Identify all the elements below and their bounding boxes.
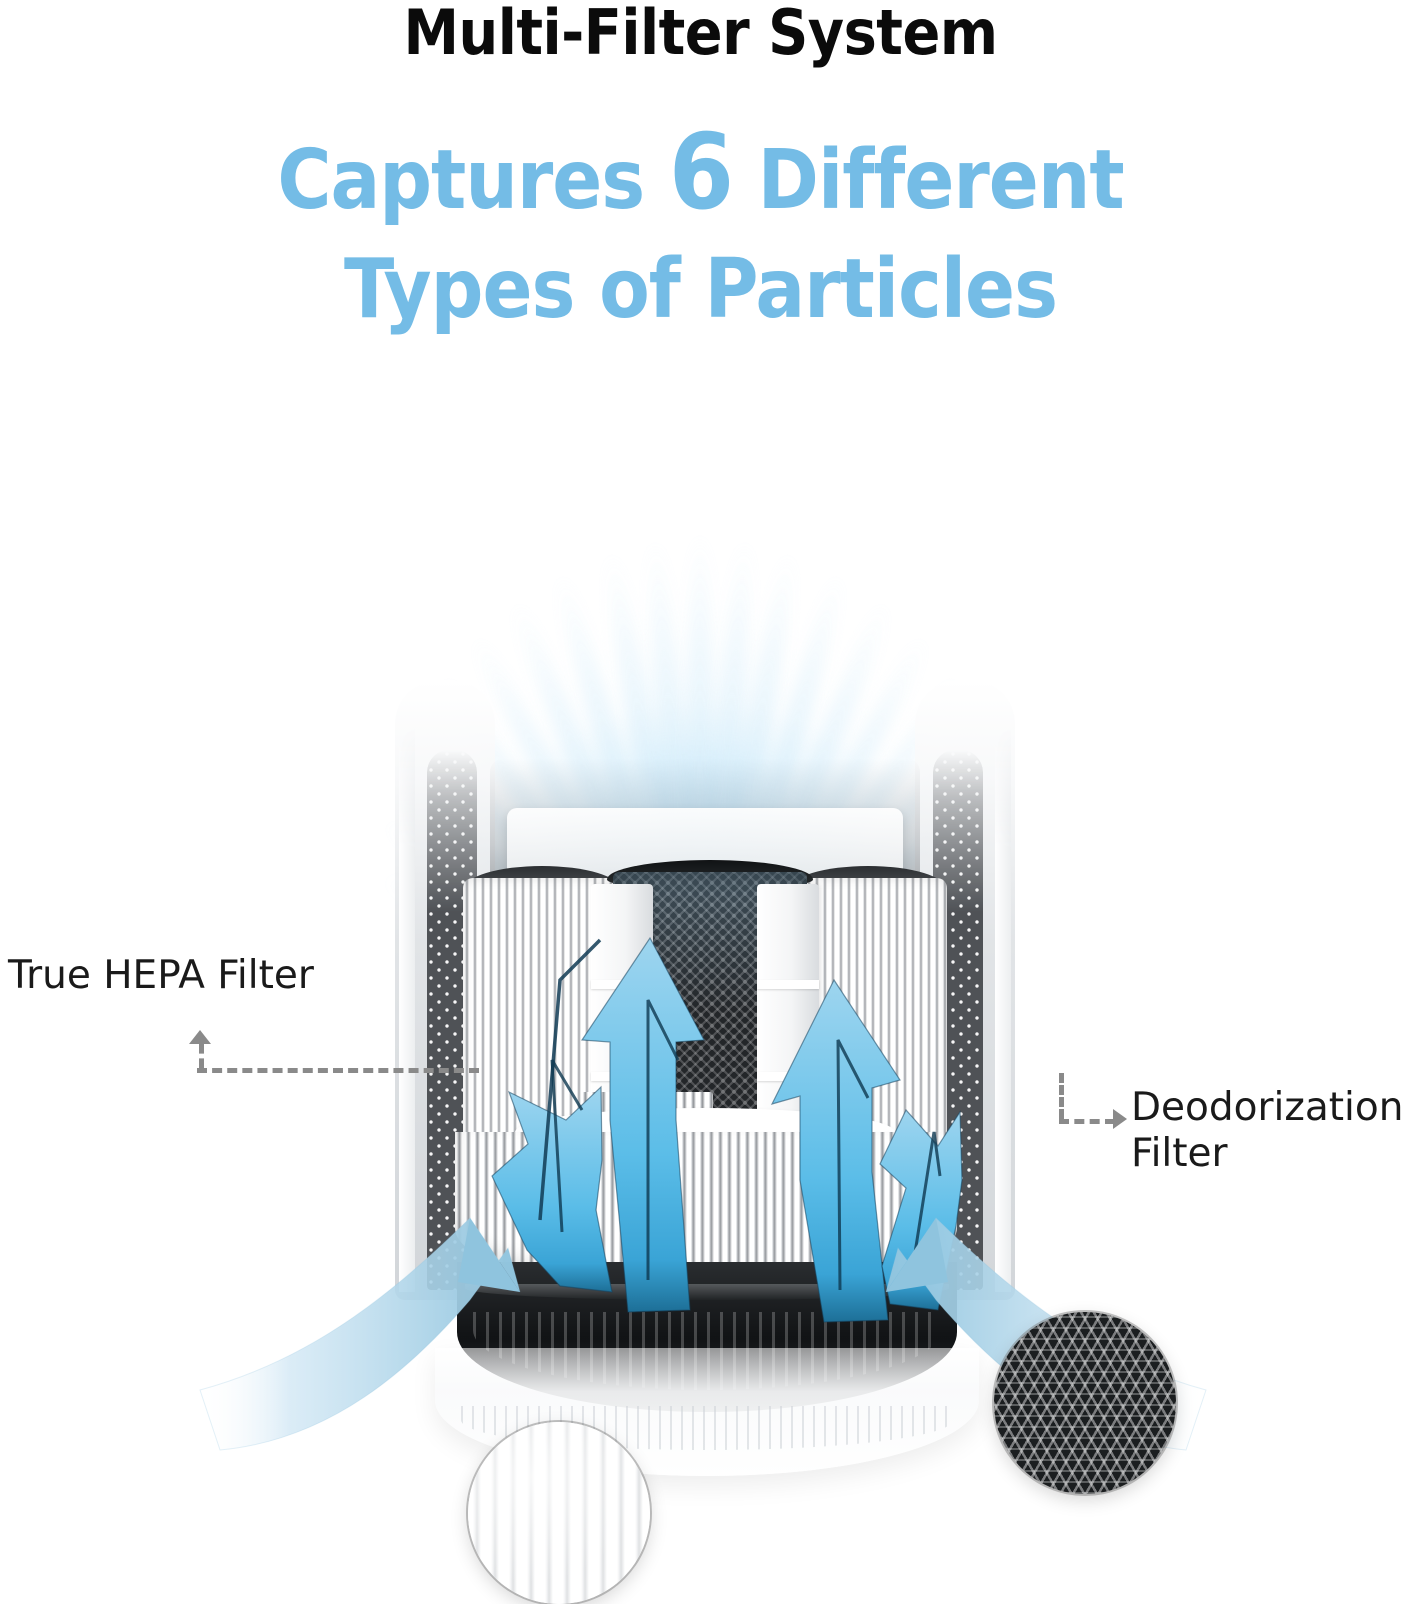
hepa-leader-arrow-icon (189, 1030, 211, 1044)
deo-leader-arrow-icon (1113, 1109, 1127, 1129)
deo-leader-vertical (1059, 1073, 1064, 1119)
hepa-filter-magnifier (468, 1422, 650, 1604)
subtitle-number: 6 (669, 111, 733, 233)
deodorization-filter-magnifier (994, 1312, 1176, 1494)
subtitle: Captures 6 Different Types of Particles (0, 126, 1401, 344)
deo-leader-horizontal (1059, 1119, 1115, 1124)
hepa-filter-label: True HEPA Filter (8, 953, 314, 999)
hepa-leader-horizontal (197, 1068, 479, 1073)
subtitle-line-1: Captures 6 Different (0, 126, 1401, 235)
heading-block: Multi-Filter System Captures 6 Different… (0, 0, 1401, 344)
hepa-leader-vertical (199, 1044, 204, 1068)
subtitle-suffix: Different (733, 133, 1124, 228)
deodorization-filter-label: Deodorization Filter (1131, 1085, 1401, 1176)
subtitle-prefix: Captures (277, 133, 669, 228)
intake-arrow-left (200, 1218, 520, 1450)
subtitle-line-2: Types of Particles (0, 235, 1401, 344)
page-title: Multi-Filter System (0, 2, 1401, 64)
